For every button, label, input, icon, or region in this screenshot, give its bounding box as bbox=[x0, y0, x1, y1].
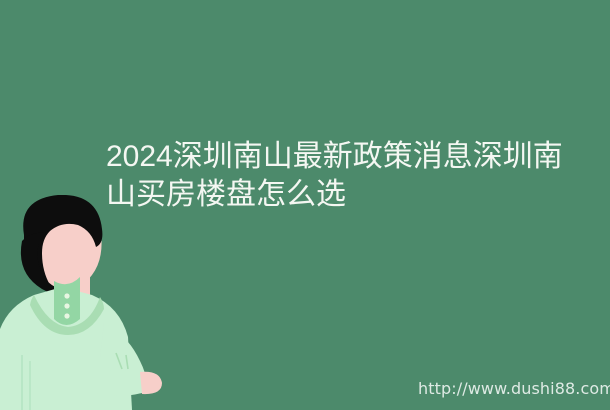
collar-button-1 bbox=[64, 293, 69, 298]
forearm-shape bbox=[94, 370, 142, 396]
title-block: 2024深圳南山最新政策消息深圳南山买房楼盘怎么选 bbox=[106, 138, 566, 214]
person-illustration bbox=[0, 195, 200, 410]
watermark-url: http://www.dushi88.com.cn bbox=[418, 379, 610, 399]
collar-button-2 bbox=[64, 303, 69, 308]
hand-shape bbox=[140, 372, 162, 394]
person-illustration-svg bbox=[0, 195, 200, 410]
page-title: 2024深圳南山最新政策消息深圳南山买房楼盘怎么选 bbox=[106, 138, 566, 214]
collar-button-3 bbox=[64, 313, 69, 318]
promo-banner: 2024深圳南山最新政策消息深圳南山买房楼盘怎么选 http://www.dus… bbox=[0, 0, 610, 410]
